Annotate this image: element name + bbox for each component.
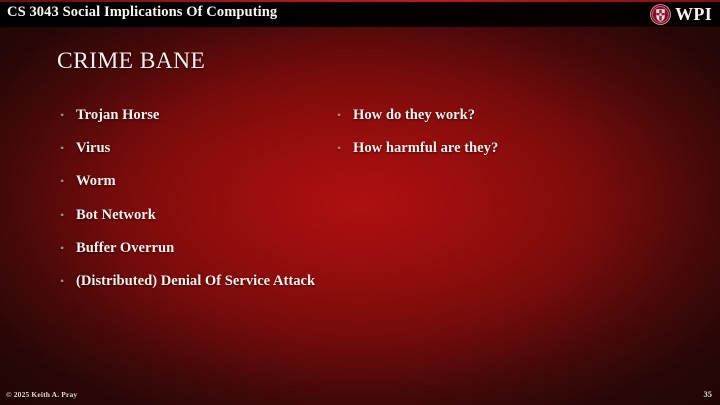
list-item-label: (Distributed) Denial Of Service Attack: [76, 272, 315, 291]
list-item: • How do they work?: [337, 106, 650, 125]
slide-title: CRIME BANE: [57, 48, 205, 75]
bullet-dot-icon: •: [337, 106, 353, 125]
bullet-dot-icon: •: [60, 272, 76, 291]
slide-body: • Trojan Horse • Virus • Worm • Bot Netw…: [0, 106, 720, 305]
list-item: • (Distributed) Denial Of Service Attack: [60, 272, 320, 291]
wpi-logo: WPI: [650, 2, 712, 26]
copyright-notice: © 2025 Keith A. Pray: [6, 390, 77, 399]
header-bottom-accent-line: [0, 27, 720, 28]
course-title: CS 3043 Social Implications Of Computing: [7, 4, 277, 21]
wpi-seal-icon: [650, 4, 671, 25]
list-item-label: Worm: [76, 172, 116, 191]
list-item-label: Trojan Horse: [76, 106, 159, 125]
wpi-wordmark: WPI: [675, 5, 712, 23]
slide-header-bar: CS 3043 Social Implications Of Computing…: [0, 0, 720, 28]
page-number: 35: [704, 389, 713, 399]
presentation-slide: CS 3043 Social Implications Of Computing…: [0, 0, 720, 405]
bullet-dot-icon: •: [60, 139, 76, 158]
list-item: • Worm: [60, 172, 320, 191]
list-item-label: How do they work?: [353, 106, 475, 125]
bullet-dot-icon: •: [60, 239, 76, 258]
bullet-dot-icon: •: [337, 139, 353, 158]
bullet-column-discussion-questions: • How do they work? • How harmful are th…: [320, 106, 650, 305]
list-item: • Virus: [60, 139, 320, 158]
bullet-dot-icon: •: [60, 206, 76, 225]
list-item-label: Virus: [76, 139, 110, 158]
bullet-dot-icon: •: [60, 106, 76, 125]
list-item-label: How harmful are they?: [353, 139, 498, 158]
header-top-accent-line: [0, 0, 720, 2]
list-item: • Trojan Horse: [60, 106, 320, 125]
list-item: • Buffer Overrun: [60, 239, 320, 258]
list-item-label: Bot Network: [76, 206, 156, 225]
bullet-dot-icon: •: [60, 172, 76, 191]
bullet-column-threat-types: • Trojan Horse • Virus • Worm • Bot Netw…: [0, 106, 320, 305]
list-item-label: Buffer Overrun: [76, 239, 174, 258]
list-item: • Bot Network: [60, 206, 320, 225]
list-item: • How harmful are they?: [337, 139, 650, 158]
